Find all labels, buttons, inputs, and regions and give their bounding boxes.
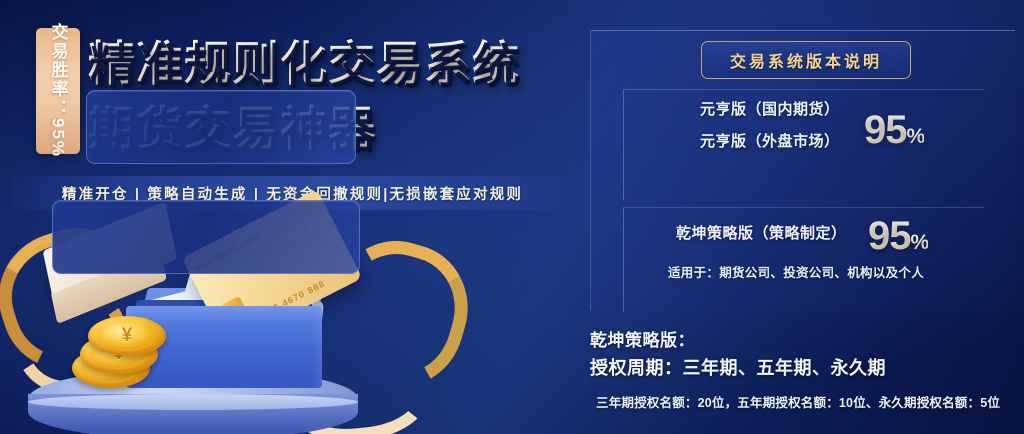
plan-card-qiankun[interactable] xyxy=(52,200,360,274)
plan-2-line-1: 乾坤策略版（策略制定） xyxy=(676,222,847,243)
plan-2-note: 适用于：期货公司、投资公司、机构以及个人 xyxy=(668,262,924,281)
plan-1-percent-value: 95 xyxy=(864,108,907,153)
plan-1-percent-symbol: % xyxy=(907,125,925,149)
version-panel-title-label: 交易系统版本说明 xyxy=(730,48,882,72)
footer-line-2: 授权周期：三年期、五年期、永久期 xyxy=(590,354,886,380)
plan-card-yuanheng[interactable] xyxy=(86,90,356,164)
coin-top: ¥ xyxy=(88,316,166,356)
coin-symbol-top: ¥ xyxy=(97,321,157,351)
plan-1-line-2: 元亨版（外盘市场） xyxy=(700,130,840,151)
plan-1-percent: 95 % xyxy=(864,108,924,153)
footer-line-3: 三年期授权名额：20位，五年期授权名额：10位、永久期授权名额：5位 xyxy=(596,392,1000,411)
plan-1-line-1: 元亨版（国内期货） xyxy=(700,98,840,119)
headline-line-1: 精准规则化交易系统 xyxy=(88,37,520,91)
podium-ring xyxy=(28,394,358,410)
plan-2-percent-value: 95 xyxy=(868,214,911,259)
win-rate-badge-label: 交易胜率：95% xyxy=(46,23,71,158)
win-rate-badge: 交易胜率：95% xyxy=(36,28,80,154)
version-panel-title: 交易系统版本说明 xyxy=(701,41,911,79)
plan-2-percent-symbol: % xyxy=(911,231,929,255)
promo-banner: 交易胜率：95% 精准规则化交易系统 期货交易神器 精准开仓 | 策略自动生成 … xyxy=(0,0,1024,434)
footer-line-1: 乾坤策略版： xyxy=(590,326,695,351)
plan-2-percent: 95 % xyxy=(868,214,928,259)
